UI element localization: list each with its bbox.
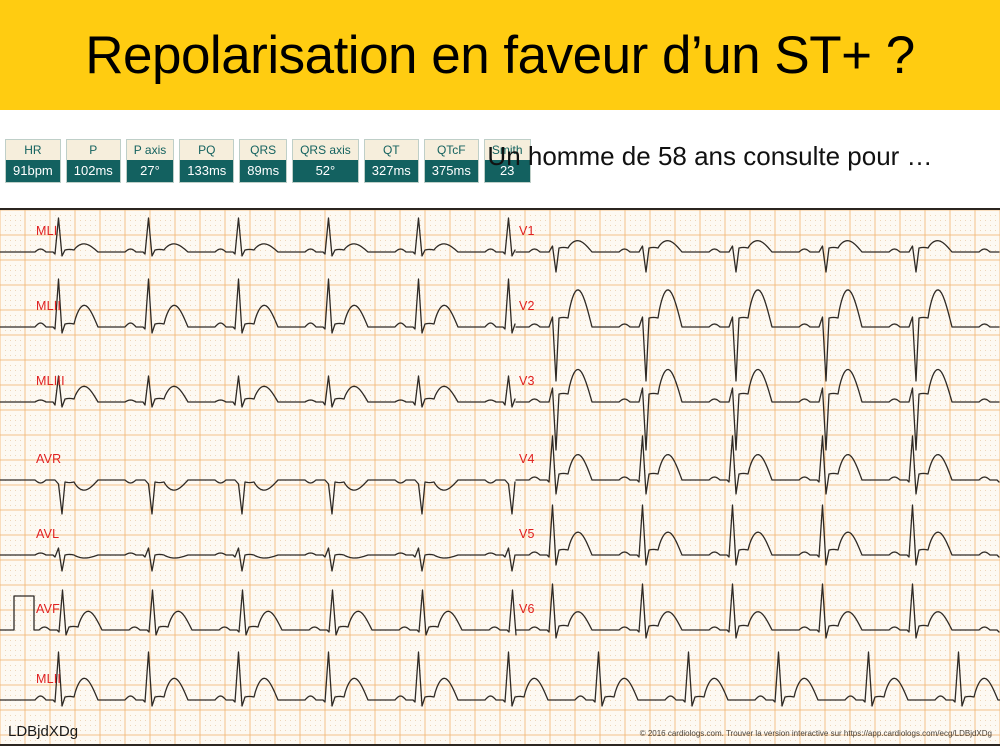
lead-label-v2: V2 [519, 299, 535, 313]
lead-label-v1: V1 [519, 224, 535, 238]
ecg-credit-watermark: © 2016 cardiologs.com. Trouver la versio… [640, 729, 992, 738]
measurement-value: 102ms [67, 160, 120, 182]
lead-label-avl: AVL [36, 527, 59, 541]
measurement-cell: PQ133ms [179, 139, 234, 183]
lead-label-v4: V4 [519, 452, 535, 466]
lead-label-mli: MLI [36, 224, 57, 238]
measurement-value: 133ms [180, 160, 233, 182]
lead-label-avr: AVR [36, 452, 61, 466]
measurement-label: PQ [180, 140, 233, 160]
measurement-cell: QRS axis52° [292, 139, 359, 183]
slide-root: Repolarisation en faveur d’un ST+ ? HR91… [0, 0, 1000, 750]
ecg-waveform-traces [0, 210, 1000, 744]
page-title: Repolarisation en faveur d’un ST+ ? [0, 0, 1000, 110]
measurement-label: QT [365, 140, 418, 160]
measurement-label: QRS axis [293, 140, 358, 160]
ecg-record-code: LDBjdXDg [8, 723, 78, 740]
measurement-value: 27° [127, 160, 173, 182]
measurement-label: P axis [127, 140, 173, 160]
measurement-label: QRS [240, 140, 286, 160]
lead-label-v3: V3 [519, 374, 535, 388]
lead-label-mlii: MLII [36, 672, 61, 686]
measurement-cell: HR91bpm [5, 139, 61, 183]
ecg-strip-panel: MLIV1MLIIV2MLIIIV3AVRV4AVLV5AVFV6MLII LD… [0, 208, 1000, 746]
measurement-value: 52° [293, 160, 358, 182]
lead-label-mlii: MLII [36, 299, 61, 313]
measurement-label: HR [6, 140, 60, 160]
measurement-label: P [67, 140, 120, 160]
lead-label-v5: V5 [519, 527, 535, 541]
measurement-value: 89ms [240, 160, 286, 182]
measurement-cell: P axis27° [126, 139, 174, 183]
lead-label-avf: AVF [36, 602, 60, 616]
measurement-cell: QRS89ms [239, 139, 287, 183]
measurement-value: 327ms [365, 160, 418, 182]
measurement-cell: QT327ms [364, 139, 419, 183]
lead-label-mliii: MLIII [36, 374, 65, 388]
title-banner: Repolarisation en faveur d’un ST+ ? [0, 0, 1000, 110]
measurement-cell: P102ms [66, 139, 121, 183]
lead-label-v6: V6 [519, 602, 535, 616]
measurement-value: 91bpm [6, 160, 60, 182]
case-caption: Un homme de 58 ans consulte pour … [430, 140, 990, 173]
